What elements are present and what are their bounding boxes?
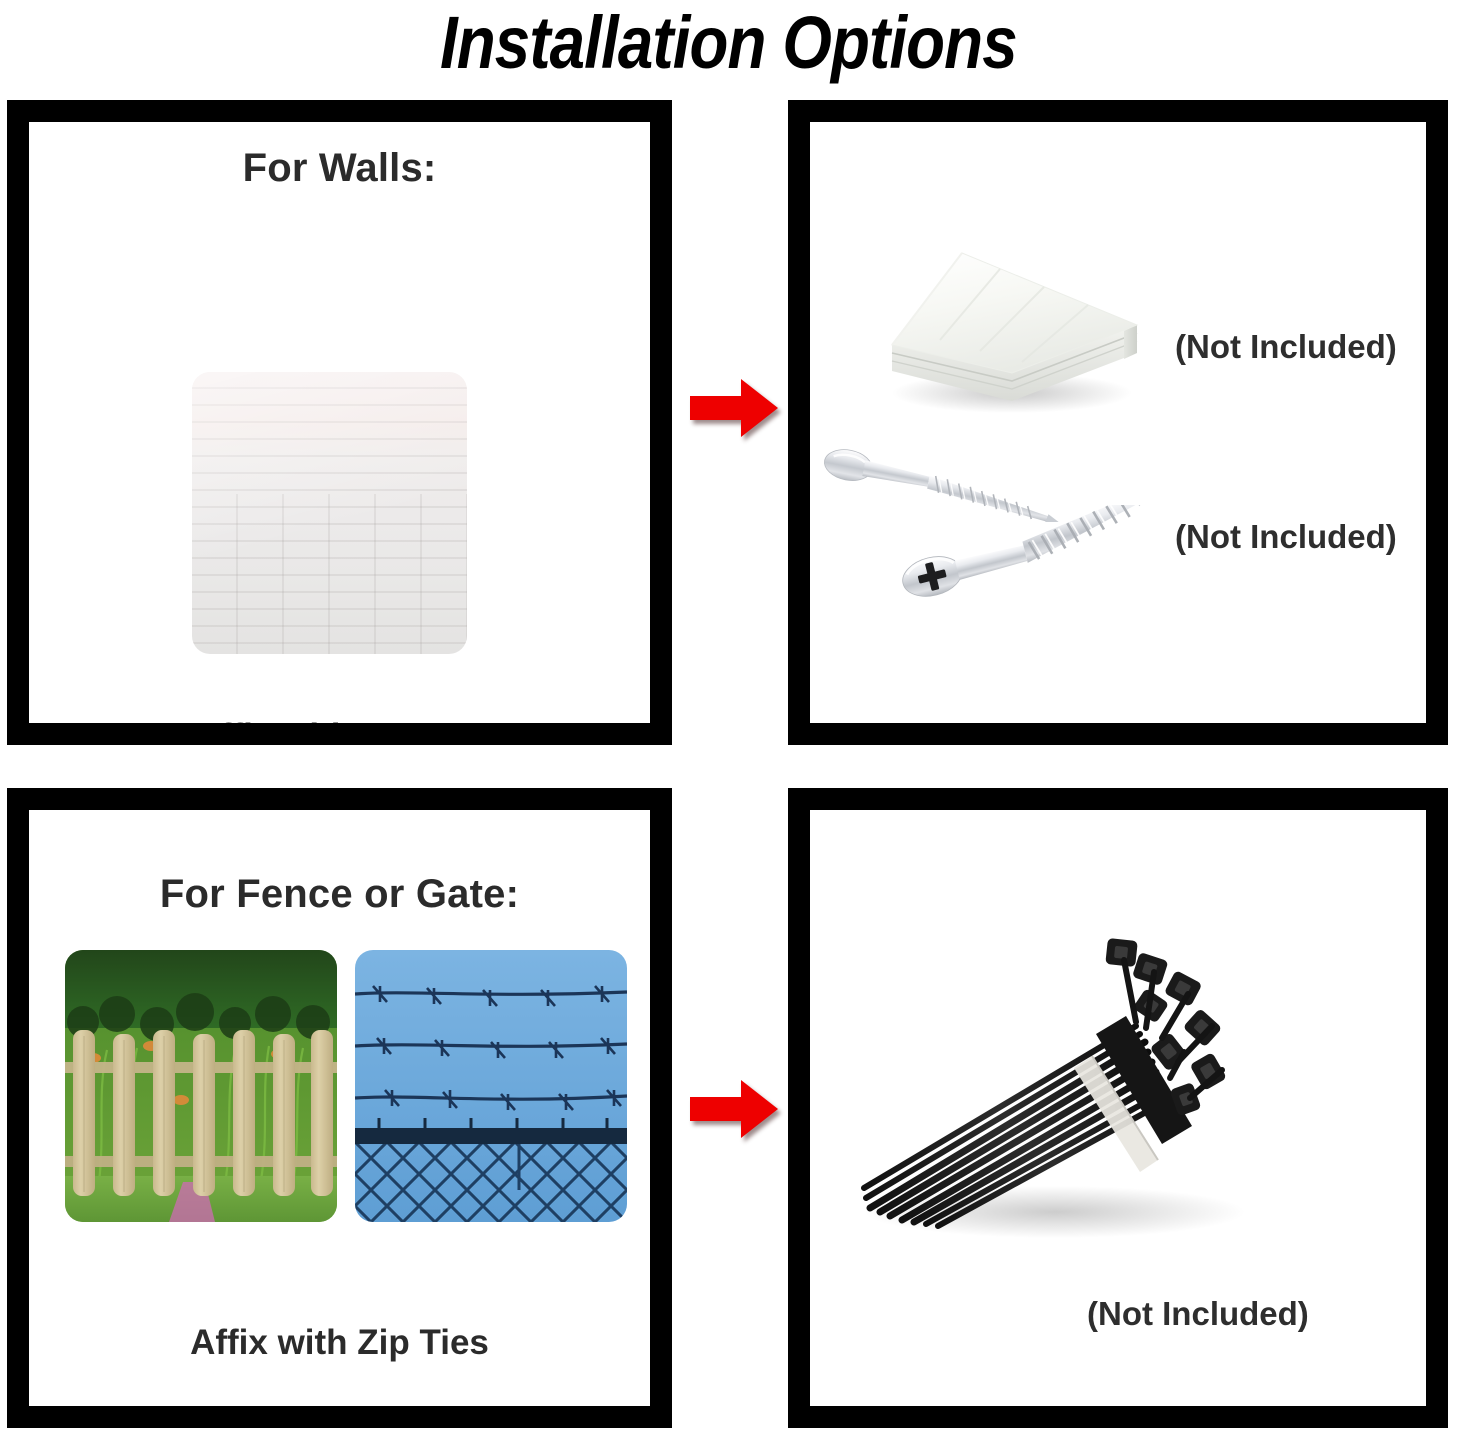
for-walls-heading: For Walls: (29, 146, 650, 191)
tape-not-included-label: (Not Included) (1175, 328, 1397, 366)
page-title: Installation Options (440, 6, 1017, 80)
white-brick-wall-photo (192, 372, 467, 654)
phillips-screw-icon (888, 505, 1178, 605)
panel-for-walls-inner: For Walls: Affix with Screws or Double S… (29, 122, 650, 723)
zip-ties-not-included-label: (Not Included) (1087, 1295, 1309, 1333)
for-walls-caption: Affix with Screws or Double Sided Tape (29, 712, 650, 723)
barbed-wire-chain-link-photo (355, 950, 627, 1222)
brick-highlight (192, 372, 467, 654)
double-sided-tape-stack-icon (862, 233, 1162, 418)
for-fence-caption: Affix with Zip Ties (29, 1318, 650, 1369)
wooden-picket-fence-photo (65, 950, 337, 1222)
panel-wall-hardware (788, 100, 1448, 745)
arrow-right-icon-walls (688, 377, 780, 439)
panel-wall-hardware-inner (810, 122, 1426, 723)
page-title-bar: Installation Options (0, 0, 1457, 86)
screws-not-included-label: (Not Included) (1175, 518, 1397, 556)
panel-for-walls: For Walls: Affix with Screws or Double S… (7, 100, 672, 745)
arrow-right-icon-fence (688, 1078, 780, 1140)
zip-ties-bundle-icon (840, 912, 1260, 1272)
for-fence-heading: For Fence or Gate: (29, 872, 650, 917)
for-walls-caption-line-1: Affix with Screws (29, 712, 650, 723)
